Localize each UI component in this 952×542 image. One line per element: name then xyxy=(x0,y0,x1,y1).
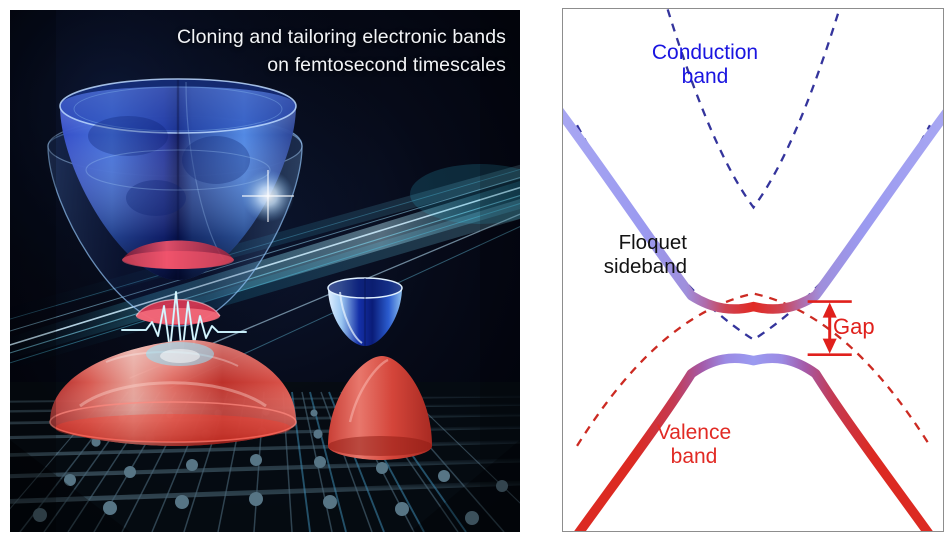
band-diagram-panel: Conduction band Floquet sideband Valence… xyxy=(562,8,944,532)
figure-root: Cloning and tailoring electronic bands o… xyxy=(0,0,952,542)
artistic-render-panel: Cloning and tailoring electronic bands o… xyxy=(10,10,520,532)
artistic-render-canvas xyxy=(10,10,520,532)
diagram-background xyxy=(563,9,943,531)
band-diagram-canvas xyxy=(563,9,943,531)
